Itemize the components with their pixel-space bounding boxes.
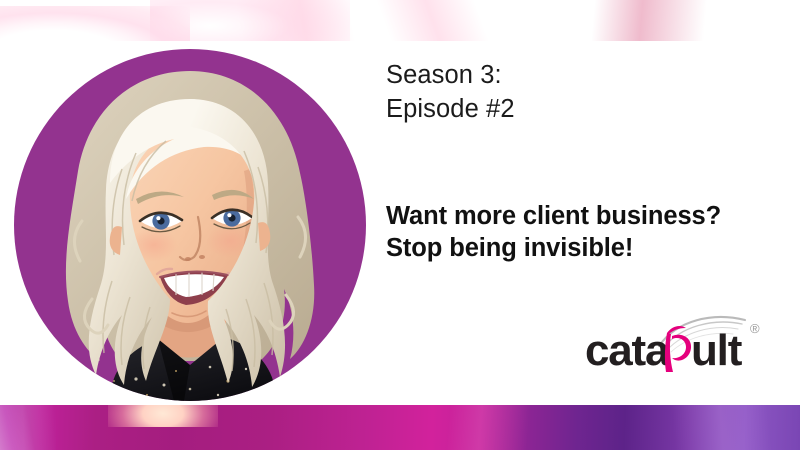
episode-eyebrow: Season 3: Episode #2 xyxy=(386,58,766,126)
eye-left xyxy=(140,212,182,231)
host-portrait xyxy=(14,49,366,401)
logo-wordmark-part-2: ult xyxy=(691,326,743,374)
catapult-logo: cata ult ® xyxy=(585,312,771,374)
bottom-gradient-band xyxy=(0,405,800,450)
top-band-white-glow xyxy=(0,6,190,41)
logo-wordmark-part-1: cata xyxy=(585,326,670,374)
nostril-left xyxy=(185,257,191,261)
top-gradient-band xyxy=(0,0,800,41)
registered-mark-icon: ® xyxy=(750,321,760,336)
episode-headline: Want more client business? Stop being in… xyxy=(386,200,776,264)
nostril-right xyxy=(199,255,205,259)
bottom-band-warm-glow xyxy=(108,405,218,427)
logo-stylized-p xyxy=(665,326,691,372)
episode-title-card: Season 3: Episode #2 Want more client bu… xyxy=(0,0,800,450)
bottom-band-left-light xyxy=(0,405,56,450)
